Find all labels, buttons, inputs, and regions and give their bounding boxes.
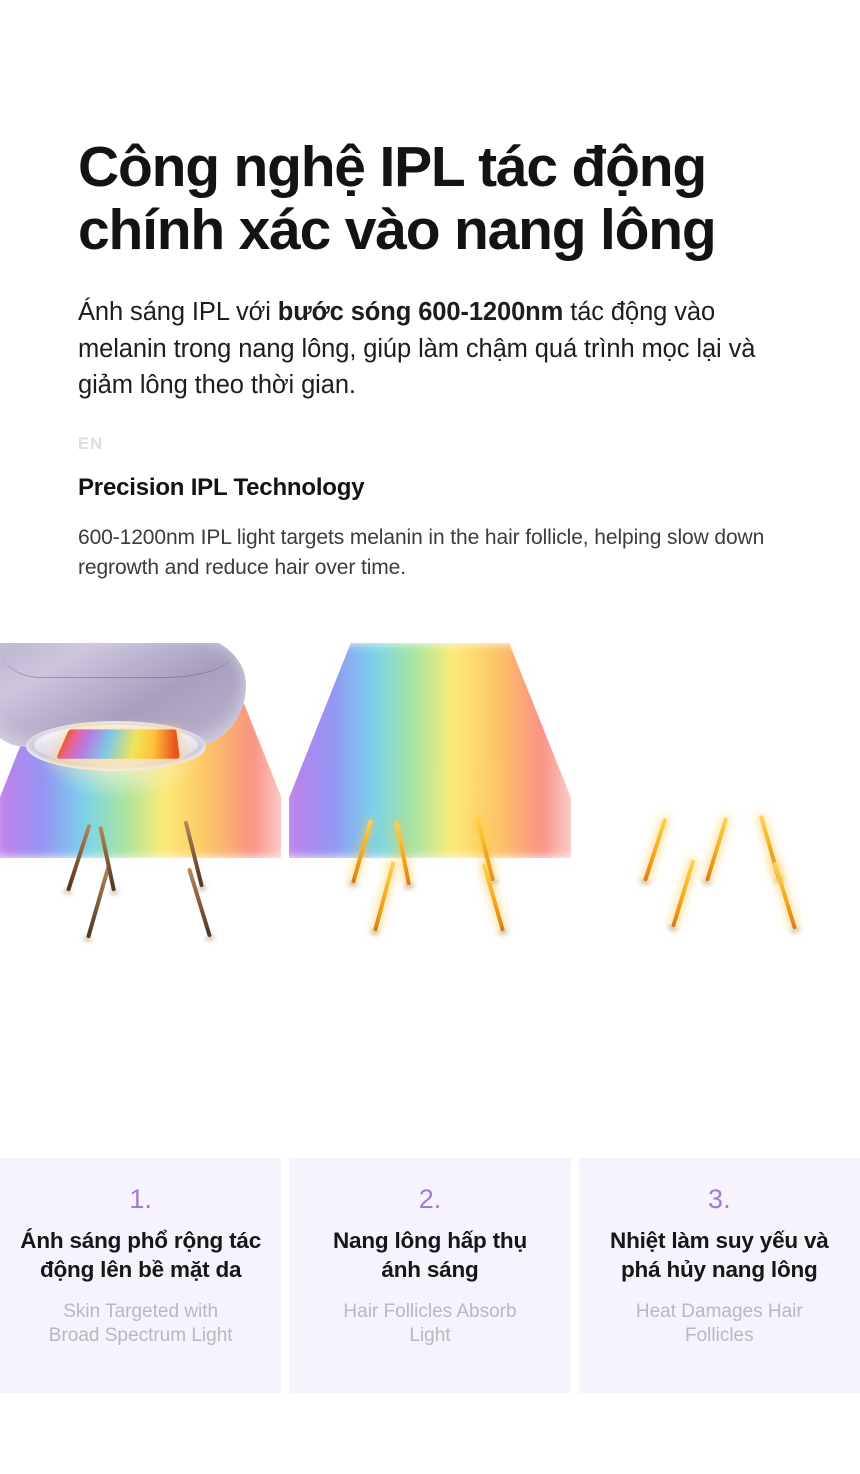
lead-part-1: Ánh sáng IPL với xyxy=(78,298,278,326)
english-heading: Precision IPL Technology xyxy=(78,474,790,502)
device-ipl-window xyxy=(56,729,180,758)
step-title-vi-line-2: ánh sáng xyxy=(381,1257,478,1282)
step-title-en-line-1: Hair Follicles Absorb xyxy=(343,1301,516,1322)
language-tag-en: EN xyxy=(78,435,790,454)
page-title-line-2: chính xác vào nang lông xyxy=(78,199,798,262)
step-number: 1. xyxy=(0,1186,281,1213)
lead-paragraph: Ánh sáng IPL với bước sóng 600-1200nm tá… xyxy=(78,294,764,403)
lead-highlight-wavelength: bước sóng 600-1200nm xyxy=(278,298,563,326)
page-title: Công nghệ IPL tác động chính xác vào nan… xyxy=(78,0,798,261)
step-title-vi-line-2: phá hủy nang lông xyxy=(621,1257,818,1282)
english-body: 600-1200nm IPL light targets melanin in … xyxy=(78,523,778,583)
step-title-en-line-2: Follicles xyxy=(685,1325,754,1346)
step-caption-2: 2. Nang lông hấp thụ ánh sáng Hair Folli… xyxy=(289,1158,570,1393)
step-title-en-line-1: Heat Damages Hair xyxy=(636,1301,803,1322)
step-title-vi-line-2: động lên bề mặt da xyxy=(40,1257,241,1282)
step-caption-3: 3. Nhiệt làm suy yếu và phá hủy nang lôn… xyxy=(579,1158,860,1393)
surface-hair xyxy=(772,861,796,929)
step-title-vi: Nang lông hấp thụ ánh sáng xyxy=(289,1227,570,1285)
device-seam-line xyxy=(2,652,234,678)
surface-hair xyxy=(482,863,505,931)
ipl-device-handset[interactable] xyxy=(0,643,278,785)
step-captions: 1. Ánh sáng phổ rộng tác động lên bề mặt… xyxy=(0,1158,860,1393)
surface-hair xyxy=(66,824,91,892)
surface-hairs-1 xyxy=(0,793,281,963)
step-title-en: Heat Damages Hair Follicles xyxy=(579,1300,860,1349)
step-number: 2. xyxy=(289,1186,570,1213)
step-title-en: Hair Follicles Absorb Light xyxy=(289,1300,570,1349)
step-title-en-line-1: Skin Targeted with xyxy=(63,1301,218,1322)
step-title-vi-line-1: Nhiệt làm suy yếu và xyxy=(610,1228,829,1253)
step-title-vi-line-1: Ánh sáng phổ rộng tác xyxy=(20,1228,261,1253)
surface-hair xyxy=(351,819,373,884)
page-title-line-1: Công nghệ IPL tác động xyxy=(78,135,706,199)
step-title-vi: Ánh sáng phổ rộng tác động lên bề mặt da xyxy=(0,1227,281,1285)
step-caption-1: 1. Ánh sáng phổ rộng tác động lên bề mặt… xyxy=(0,1158,281,1393)
surface-hairs-2 xyxy=(289,793,570,963)
surface-hair xyxy=(643,818,667,882)
surface-hair xyxy=(671,859,695,927)
step-title-vi-line-1: Nang lông hấp thụ xyxy=(333,1228,527,1253)
surface-hair xyxy=(705,817,728,881)
surface-hair xyxy=(395,822,411,886)
surface-hairs-3 xyxy=(579,793,860,963)
step-title-en: Skin Targeted with Broad Spectrum Light xyxy=(0,1300,281,1349)
step-title-en-line-2: Broad Spectrum Light xyxy=(49,1325,233,1346)
step-number: 3. xyxy=(579,1186,860,1213)
surface-hair xyxy=(373,861,395,932)
intro-text-block: Công nghệ IPL tác động chính xác vào nan… xyxy=(78,0,790,583)
step-title-vi: Nhiệt làm suy yếu và phá hủy nang lông xyxy=(579,1227,860,1285)
step-title-en-line-2: Light xyxy=(409,1325,450,1346)
surface-hair xyxy=(86,865,111,938)
